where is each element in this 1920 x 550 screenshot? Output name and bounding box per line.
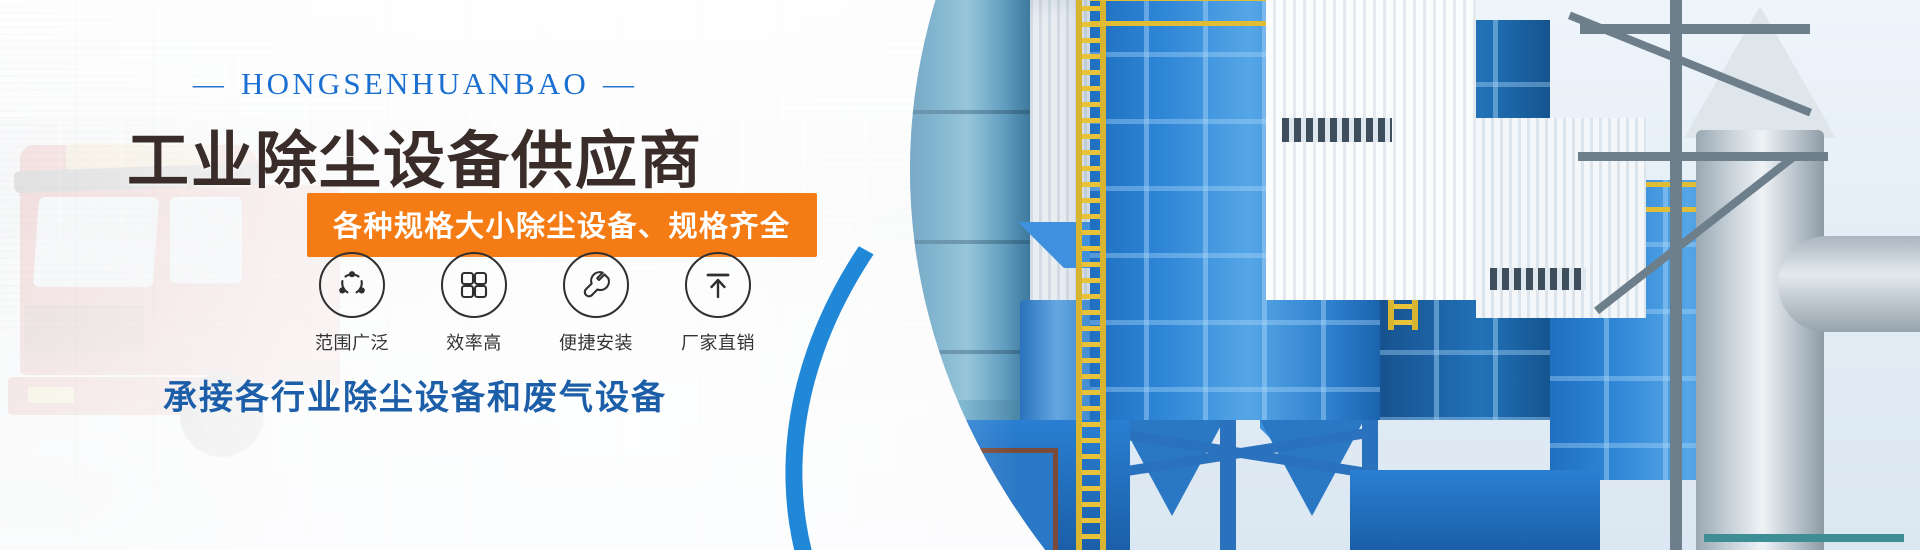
banner-tagline: 承接各行业除尘设备和废气设备 [0, 370, 830, 419]
white-clad-building-upper [1266, 0, 1476, 300]
support-leg [1220, 420, 1236, 550]
silver-silo-tower [1696, 130, 1824, 550]
feature-icon-circle [319, 252, 385, 318]
wrench-icon [578, 267, 614, 303]
brand-eyebrow: —HONGSENHUANBAO— [0, 66, 830, 102]
hero-banner: —HONGSENHUANBAO— 工业除尘设备供应商 各种规格大小除尘设备、规格… [0, 0, 1920, 550]
green-handrail [1704, 534, 1904, 542]
subtitle-orange-bar: 各种规格大小除尘设备、规格齐全 [307, 193, 817, 257]
feature-item-high-efficiency[interactable]: 效率高 [422, 252, 526, 355]
feature-icon-circle [563, 252, 629, 318]
feature-icon-circle [685, 252, 751, 318]
silver-duct-pipe [1778, 236, 1920, 332]
steel-column [1670, 0, 1682, 550]
brand-eyebrow-text: HONGSENHUANBAO [241, 66, 589, 101]
caged-ladder [1076, 0, 1106, 550]
building-window-strip [1490, 268, 1586, 290]
banner-text-content: —HONGSENHUANBAO— 工业除尘设备供应商 各种规格大小除尘设备、规格… [0, 0, 960, 550]
feature-label: 范围广泛 [300, 329, 404, 355]
feature-item-factory-direct[interactable]: 厂家直销 [666, 252, 770, 355]
dash-left-icon: — [193, 66, 227, 102]
building-window-strip [1282, 118, 1392, 142]
arrow-up-to-line-icon [701, 268, 735, 302]
subtitle-text: 各种规格大小除尘设备、规格齐全 [333, 209, 791, 243]
feature-label: 厂家直销 [666, 329, 770, 355]
feature-list: 范围广泛 效率高 [300, 252, 770, 355]
feature-icon-circle [441, 252, 507, 318]
page-title: 工业除尘设备供应商 [0, 110, 830, 200]
feature-item-wide-range[interactable]: 范围广泛 [300, 252, 404, 355]
grid-four-squares-icon [457, 268, 491, 302]
feature-label: 便捷安装 [544, 329, 648, 355]
share-nodes-icon [334, 267, 370, 303]
base-skirt-wall [1350, 470, 1600, 550]
feature-item-easy-install[interactable]: 便捷安装 [544, 252, 648, 355]
feature-label: 效率高 [422, 329, 526, 355]
dash-right-icon: — [603, 66, 637, 102]
